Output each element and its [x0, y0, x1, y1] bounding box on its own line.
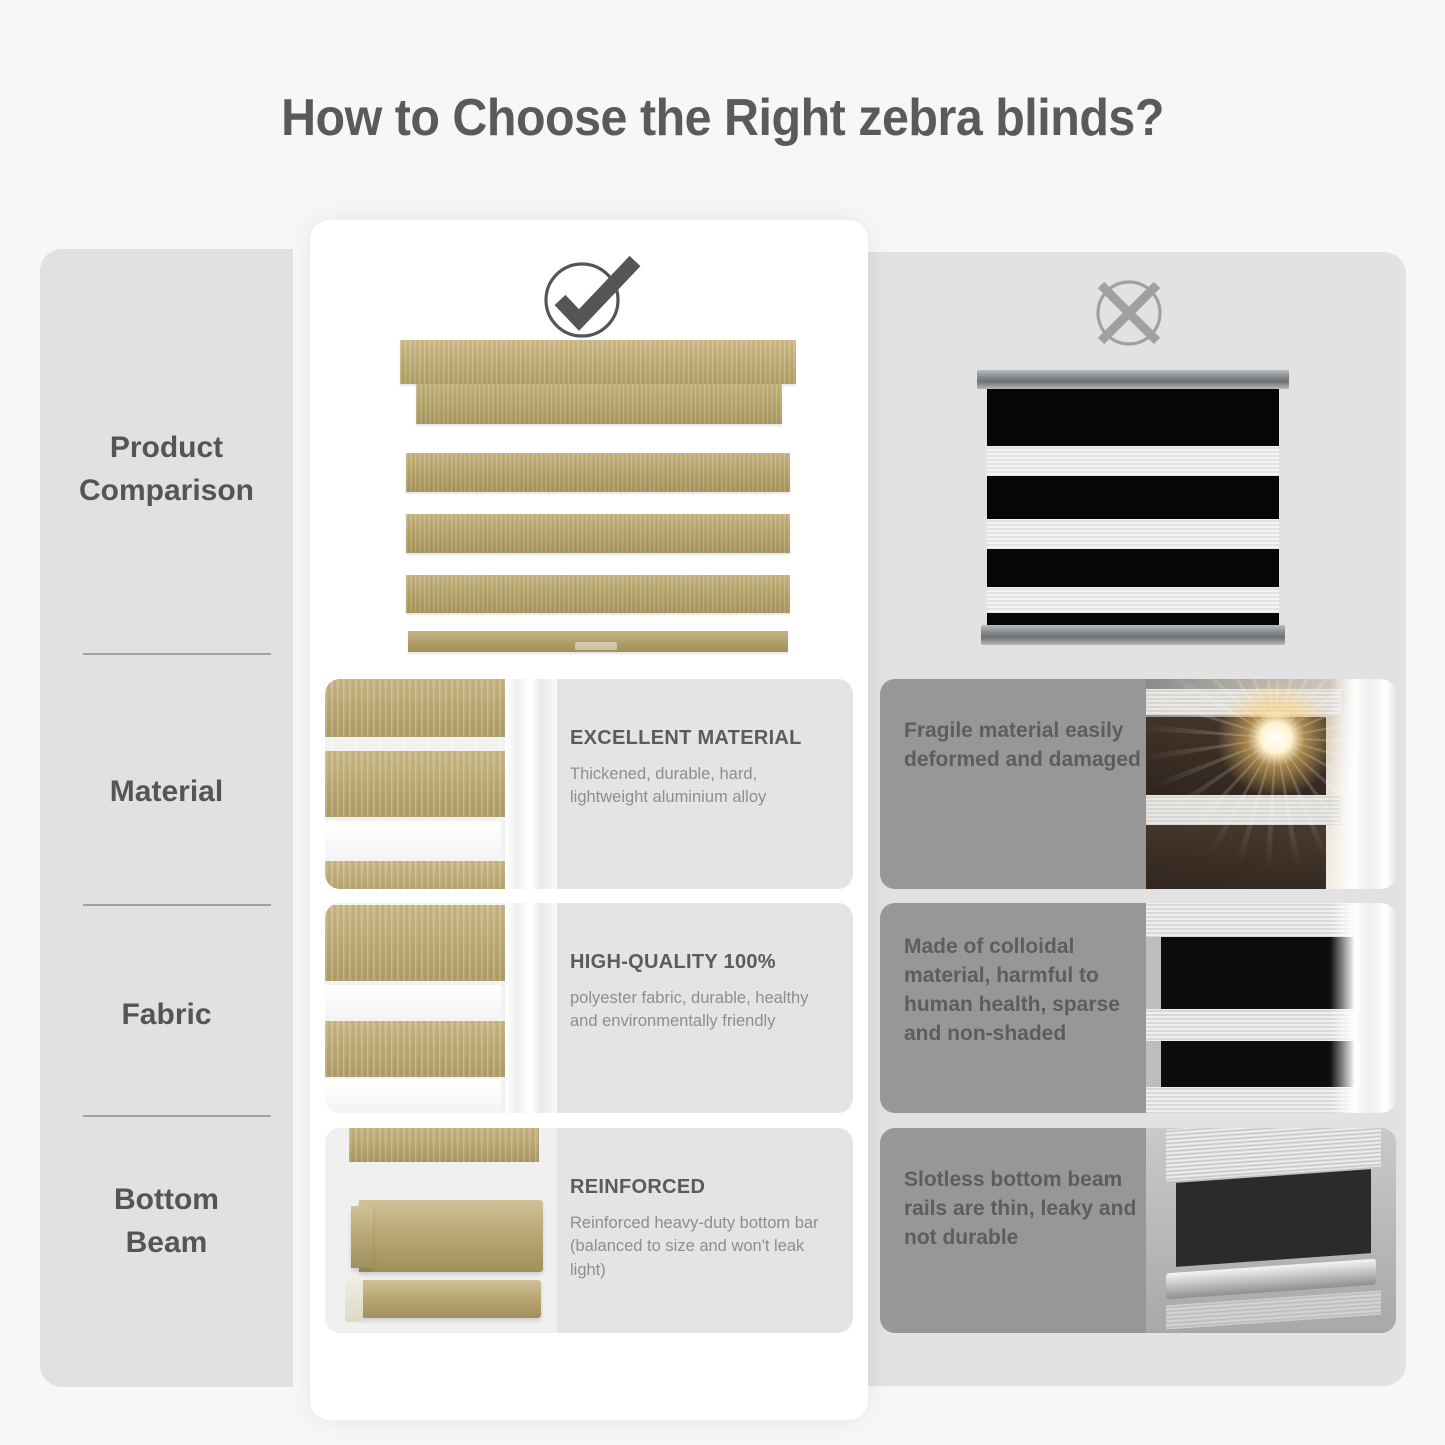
row-divider — [83, 653, 271, 655]
feature-card-fabric-good: HIGH-QUALITY 100% polyester fabric, dura… — [325, 903, 853, 1113]
sparse-black-blind-photo — [1146, 903, 1396, 1113]
feature-card-material-good: EXCELLENT MATERIAL Thickened, durable, h… — [325, 679, 853, 889]
row-label-bottom-beam-line1: Bottom — [40, 1179, 293, 1222]
row-divider — [83, 904, 271, 906]
feature-text-block: EXCELLENT MATERIAL Thickened, durable, h… — [570, 727, 832, 810]
feature-heading: EXCELLENT MATERIAL — [570, 727, 832, 750]
beige-blind-closeup-photo — [325, 679, 557, 889]
beige-fabric-closeup-photo — [325, 903, 557, 1113]
feature-card-material-bad: Fragile material easily deformed and dam… — [880, 679, 1396, 889]
row-label-product-comparison-line1: Product — [40, 427, 293, 470]
blind-slat — [406, 453, 790, 492]
blind-fabric — [987, 389, 1279, 625]
row-label-product-comparison: Product Comparison — [40, 427, 293, 512]
feature-text-block: HIGH-QUALITY 100% polyester fabric, dura… — [570, 951, 832, 1034]
feature-body: polyester fabric, durable, healthy and e… — [570, 987, 832, 1034]
row-label-bottom-beam: Bottom Beam — [40, 1179, 293, 1264]
sheer-band — [987, 446, 1279, 476]
feature-card-bottom-beam-bad: Slotless bottom beam rails are thin, lea… — [880, 1128, 1396, 1333]
blind-valance — [416, 384, 782, 424]
row-label-column: Product Comparison Material Fabric Botto… — [40, 249, 293, 1387]
blind-headrail — [977, 370, 1289, 389]
sheer-band — [987, 519, 1279, 549]
feature-text-bad: Made of colloidal material, harmful to h… — [904, 933, 1154, 1049]
feature-card-fabric-bad: Made of colloidal material, harmful to h… — [880, 903, 1396, 1113]
row-label-bottom-beam-line2: Beam — [40, 1222, 293, 1265]
row-divider — [83, 1115, 271, 1117]
window-frame — [1330, 679, 1396, 889]
cross-circle-icon — [1083, 272, 1175, 354]
feature-body: Reinforced heavy-duty bottom bar (balanc… — [570, 1212, 832, 1282]
row-label-material: Material — [40, 771, 293, 814]
blind-bottom-rail — [408, 631, 788, 652]
thin-bottom-rail-photo — [1146, 1128, 1396, 1333]
feature-heading: REINFORCED — [570, 1176, 832, 1199]
feature-text-bad: Fragile material easily deformed and dam… — [904, 717, 1154, 775]
window-frame — [505, 679, 557, 889]
feature-text-bad: Slotless bottom beam rails are thin, lea… — [904, 1166, 1154, 1253]
black-zebra-blind-image — [977, 370, 1289, 645]
reinforced-bottom-bar-photo — [325, 1128, 557, 1333]
light-leak-sunflare-photo — [1146, 679, 1396, 889]
blind-slat — [406, 514, 790, 553]
blind-bottom-rail — [981, 625, 1285, 645]
window-frame — [505, 903, 557, 1113]
feature-text-block: REINFORCED Reinforced heavy-duty bottom … — [570, 1176, 832, 1282]
row-label-fabric: Fabric — [40, 994, 293, 1037]
check-circle-icon — [534, 252, 644, 342]
page-title: How to Choose the Right zebra blinds? — [51, 88, 1395, 148]
feature-heading: HIGH-QUALITY 100% — [570, 951, 832, 974]
blind-slat — [406, 575, 790, 613]
window-frame — [1330, 903, 1396, 1113]
blind-headrail — [400, 340, 796, 384]
feature-card-bottom-beam-good: REINFORCED Reinforced heavy-duty bottom … — [325, 1128, 853, 1333]
row-label-product-comparison-line2: Comparison — [40, 470, 293, 513]
feature-body: Thickened, durable, hard, lightweight al… — [570, 763, 832, 810]
beige-zebra-blind-image — [398, 340, 798, 665]
sheer-band — [987, 587, 1279, 613]
